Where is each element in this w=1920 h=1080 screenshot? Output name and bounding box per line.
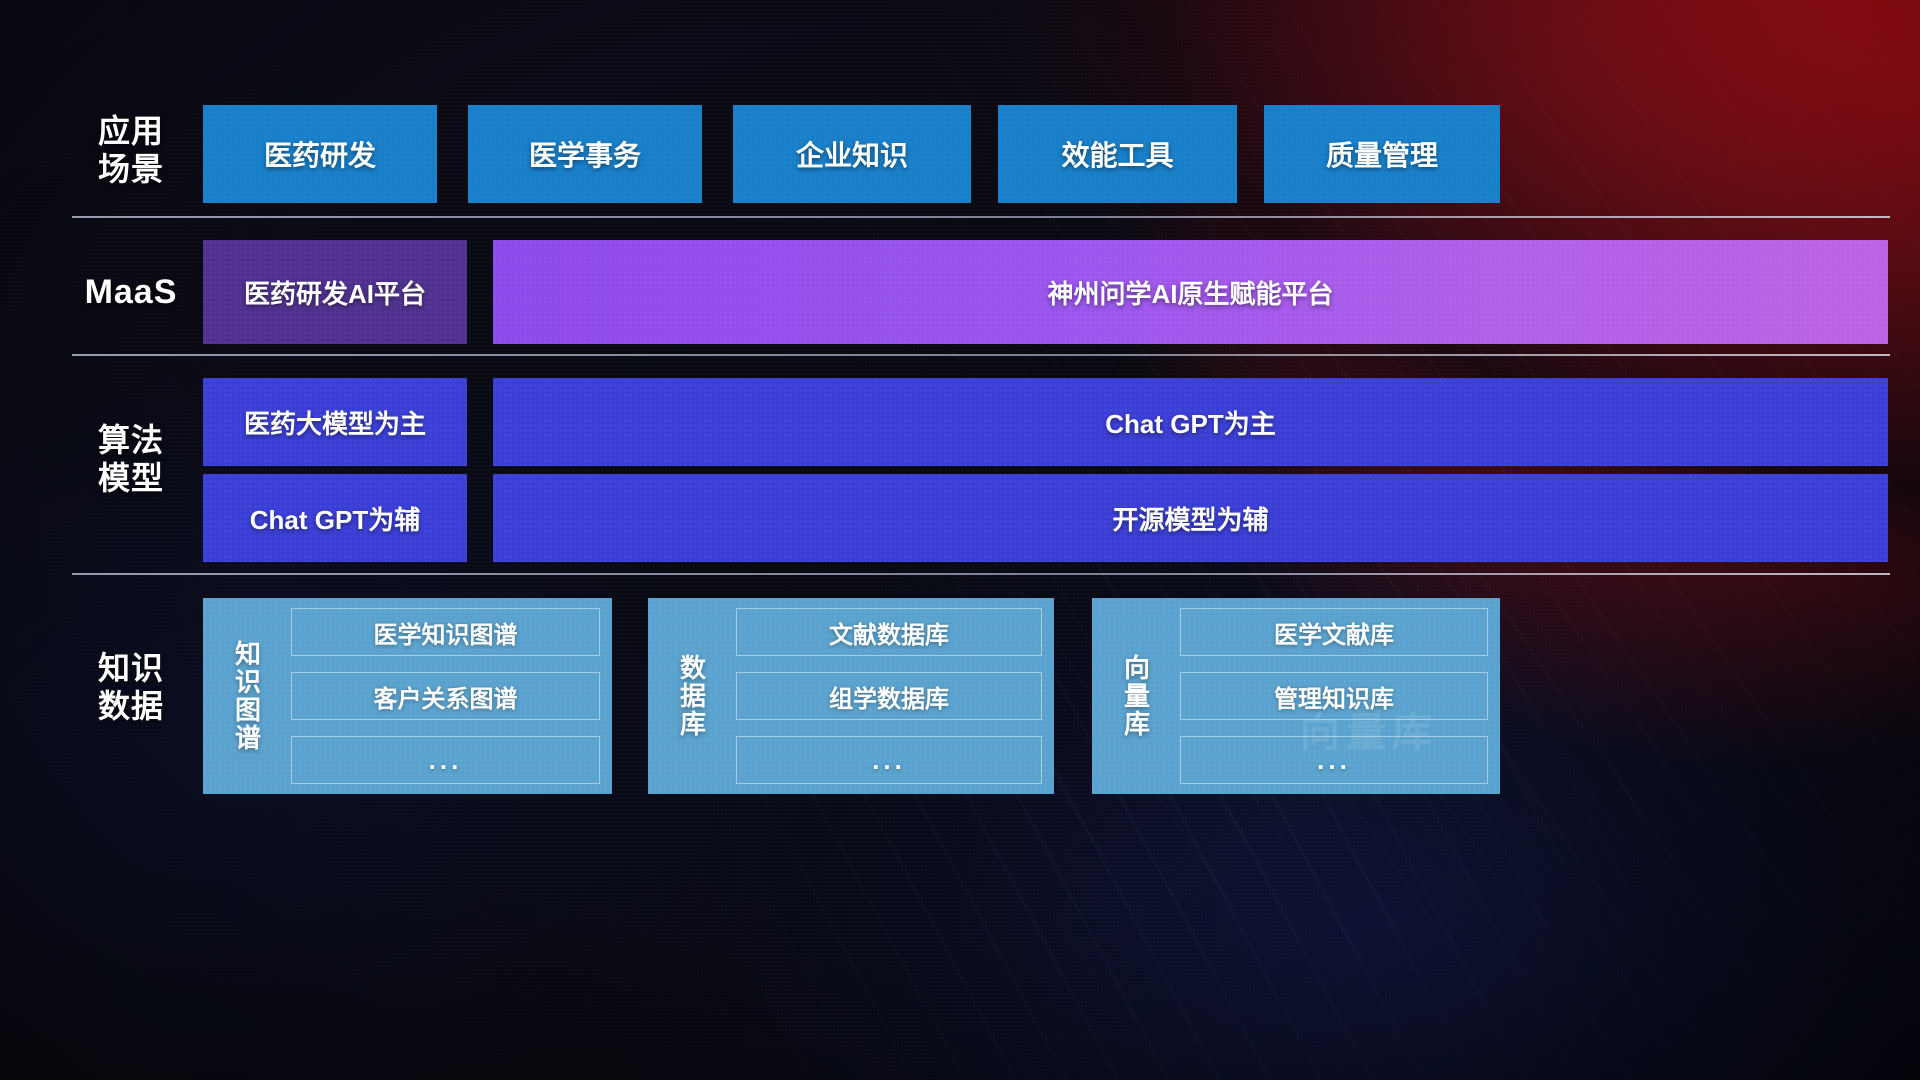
algorithm-label-left-primary: 医药大模型为主 — [244, 404, 426, 441]
architecture-diagram-slide: 应用 场景 医药研发 医学事务 企业知识 效能工具 质量管理 MaaS 医药研发… — [0, 0, 1920, 1080]
knowledge-item[interactable]: 客户关系图谱 — [291, 672, 600, 720]
knowledge-group-3-char-3: 库 — [1124, 710, 1150, 738]
row-label-algorithms: 算法 模型 — [72, 422, 190, 498]
algorithm-label-right-primary: Chat GPT为主 — [1105, 404, 1275, 441]
algorithm-box-left-secondary[interactable]: Chat GPT为辅 — [203, 474, 467, 562]
knowledge-item[interactable]: 组学数据库 — [736, 672, 1042, 720]
knowledge-group-1-title: 知 识 图 谱 — [219, 608, 277, 784]
scenario-box-4[interactable]: 效能工具 — [998, 105, 1237, 203]
scenario-box-5[interactable]: 质量管理 — [1264, 105, 1500, 203]
divider-maas-algorithms — [72, 354, 1890, 356]
scenario-label-4: 效能工具 — [1061, 134, 1173, 174]
algorithm-box-right-primary[interactable]: Chat GPT为主 — [493, 378, 1888, 466]
divider-scenarios-maas — [72, 216, 1890, 218]
knowledge-group-1-char-4: 谱 — [235, 724, 261, 752]
knowledge-group-2-char-3: 库 — [680, 710, 706, 738]
scenario-box-2[interactable]: 医学事务 — [468, 105, 702, 203]
knowledge-group-3-title: 向 量 库 — [1108, 608, 1166, 784]
algorithm-label-right-secondary: 开源模型为辅 — [1112, 500, 1268, 537]
knowledge-item-more[interactable]: ... — [736, 736, 1042, 784]
knowledge-group-3-char-2: 量 — [1124, 682, 1150, 710]
knowledge-group-1-items: 医学知识图谱 客户关系图谱 ... — [277, 608, 600, 784]
knowledge-item-more[interactable]: ... — [1180, 736, 1488, 784]
divider-algorithms-knowledge — [72, 573, 1890, 575]
knowledge-group-1-char-1: 知 — [235, 640, 261, 668]
knowledge-item[interactable]: 医学文献库 — [1180, 608, 1488, 656]
algorithm-box-left-primary[interactable]: 医药大模型为主 — [203, 378, 467, 466]
knowledge-group-2-char-2: 据 — [680, 682, 706, 710]
knowledge-item-more[interactable]: ... — [291, 736, 600, 784]
row-label-maas: MaaS — [72, 272, 190, 312]
scenario-box-1[interactable]: 医药研发 — [203, 105, 437, 203]
scenario-label-1: 医药研发 — [264, 134, 376, 174]
knowledge-group-3-char-1: 向 — [1124, 654, 1150, 682]
scenario-label-5: 质量管理 — [1326, 134, 1438, 174]
knowledge-group-2-title: 数 据 库 — [664, 608, 722, 784]
maas-right-label: 神州问学AI原生赋能平台 — [1047, 274, 1333, 311]
knowledge-group-vector-store[interactable]: 向 量 库 医学文献库 管理知识库 ... — [1092, 598, 1500, 794]
scenario-box-3[interactable]: 企业知识 — [733, 105, 971, 203]
knowledge-group-2-char-1: 数 — [680, 654, 706, 682]
knowledge-group-knowledge-graph[interactable]: 知 识 图 谱 医学知识图谱 客户关系图谱 ... — [203, 598, 612, 794]
scenario-label-2: 医学事务 — [529, 134, 641, 174]
knowledge-item[interactable]: 文献数据库 — [736, 608, 1042, 656]
maas-left-label: 医药研发AI平台 — [244, 274, 426, 311]
row-label-scenarios: 应用 场景 — [72, 113, 190, 189]
knowledge-group-1-char-2: 识 — [235, 668, 261, 696]
algorithm-box-right-secondary[interactable]: 开源模型为辅 — [493, 474, 1888, 562]
scenario-label-3: 企业知识 — [796, 134, 908, 174]
knowledge-group-database[interactable]: 数 据 库 文献数据库 组学数据库 ... — [648, 598, 1054, 794]
knowledge-item[interactable]: 医学知识图谱 — [291, 608, 600, 656]
algorithm-label-left-secondary: Chat GPT为辅 — [250, 500, 420, 537]
maas-platform-box-right[interactable]: 神州问学AI原生赋能平台 — [493, 240, 1888, 344]
knowledge-group-1-char-3: 图 — [235, 696, 261, 724]
knowledge-group-2-items: 文献数据库 组学数据库 ... — [722, 608, 1042, 784]
knowledge-group-3-items: 医学文献库 管理知识库 ... — [1166, 608, 1488, 784]
knowledge-item[interactable]: 管理知识库 — [1180, 672, 1488, 720]
row-label-knowledge: 知识 数据 — [72, 650, 190, 726]
maas-platform-box-left[interactable]: 医药研发AI平台 — [203, 240, 467, 344]
